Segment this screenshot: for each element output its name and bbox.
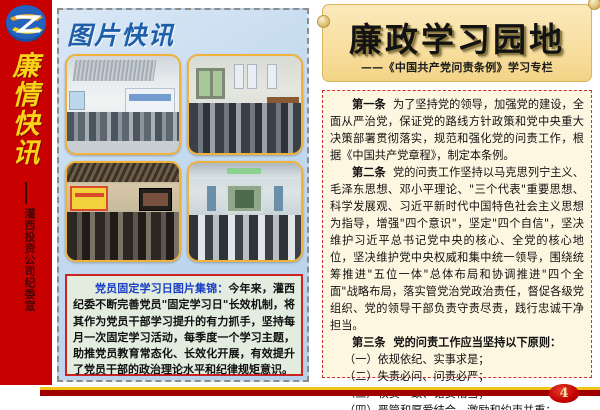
photo-item[interactable] bbox=[65, 54, 181, 155]
photo-poster-detail bbox=[234, 64, 244, 89]
principle-item: （一）依规依纪、实事求是； bbox=[330, 351, 584, 368]
banner-title-char-2: 快 bbox=[0, 110, 52, 139]
photo-caption-text: 党员固定学习日图片集锦：今年来，灌西纪委不断完善党员"固定学习日"长效机制，将其… bbox=[73, 281, 295, 379]
photo-screen-detail bbox=[139, 188, 173, 211]
photo-door-detail bbox=[207, 186, 216, 211]
photo-door-detail bbox=[274, 186, 283, 211]
principle-item: （二）失责必问、问责必严； bbox=[330, 368, 584, 385]
banner-title-char-1: 情 bbox=[0, 81, 52, 110]
photo-item[interactable] bbox=[187, 161, 303, 262]
photo-poster-detail bbox=[247, 64, 257, 89]
article-head: 第一条 bbox=[352, 98, 386, 111]
photo-audience-detail bbox=[189, 215, 301, 260]
banner-title: 廉 情 快 讯 bbox=[0, 52, 52, 169]
picture-news-title: 图片快讯 bbox=[67, 16, 175, 52]
photo-wall-banner-detail bbox=[70, 186, 108, 211]
article-paragraph: 第一条 为了坚持党的领导，加强党的建设，全面从严治党，保证党的路线方针政策和党中… bbox=[330, 96, 584, 164]
company-swoosh-logo-icon bbox=[4, 4, 48, 44]
article-head: 第三条 bbox=[352, 336, 386, 349]
banner-title-char-3: 讯 bbox=[0, 139, 52, 168]
article-paragraph: 第二条 党的问责工作坚持以马克思列宁主义、毛泽东思想、邓小平理论、"三个代表"重… bbox=[330, 164, 584, 334]
article-head: 第二条 bbox=[352, 166, 386, 179]
photo-item[interactable] bbox=[65, 161, 181, 262]
photo-caption-box: 党员固定学习日图片集锦：今年来，灌西纪委不断完善党员"固定学习日"长效机制，将其… bbox=[65, 274, 303, 376]
study-column-title: 廉政学习园地 bbox=[323, 13, 591, 61]
photo-poster-detail bbox=[267, 64, 277, 89]
photo-caption-body: 今年来，灌西纪委不断完善党员"固定学习日"长效机制，将其作为党员干部学习提升的有… bbox=[73, 282, 295, 376]
photo-window-detail bbox=[196, 68, 225, 99]
picture-news-panel: 图片快讯 bbox=[57, 8, 309, 382]
principle-item: （四）严管和厚爱结合、激励和约束并重； bbox=[330, 402, 584, 410]
photo-ceiling-detail bbox=[72, 60, 156, 81]
article-three-paragraph: 第三条 党的问责工作应当坚持以下原则： bbox=[330, 334, 584, 351]
banner-divider-rule bbox=[25, 182, 27, 204]
photo-window-detail bbox=[69, 91, 85, 110]
photo-projection-screen-detail bbox=[226, 184, 263, 213]
photo-audience-detail bbox=[189, 103, 301, 153]
photo-ceiling-detail bbox=[189, 163, 301, 179]
scroll-knob-right-icon bbox=[588, 0, 600, 10]
article-body: 党的问责工作坚持以马克思列宁主义、毛泽东思想、邓小平理论、"三个代表"重要思想、… bbox=[330, 166, 584, 332]
photo-item[interactable] bbox=[187, 54, 303, 155]
regulation-article-box: 第一条 为了坚持党的领导，加强党的建设，全面从严治党，保证党的路线方针政策和党中… bbox=[322, 90, 592, 378]
newsletter-page: 廉 情 快 讯 灌西投资公司纪委宣 图片快讯 bbox=[0, 0, 600, 410]
left-red-banner: 廉 情 快 讯 灌西投资公司纪委宣 bbox=[0, 0, 52, 385]
footer-bar bbox=[40, 387, 600, 396]
study-column-subtitle: ——《中国共产党问责条例》学习专栏 bbox=[323, 59, 591, 75]
banner-title-char-0: 廉 bbox=[0, 52, 52, 81]
photo-caption-lead: 党员固定学习日图片集锦： bbox=[95, 282, 228, 295]
banner-subtitle: 灌西投资公司纪委宣 bbox=[17, 208, 35, 312]
article-body: 党的问责工作应当坚持以下原则： bbox=[393, 336, 561, 349]
photo-audience-detail bbox=[67, 212, 179, 261]
photo-ceiling-detail bbox=[67, 163, 179, 182]
photo-grid bbox=[65, 54, 303, 262]
photo-audience-detail bbox=[67, 112, 179, 153]
page-number-badge: 4 bbox=[549, 384, 579, 403]
study-column-title-scroll: 廉政学习园地 ——《中国共产党问责条例》学习专栏 bbox=[322, 4, 592, 82]
study-column-panel: 廉政学习园地 ——《中国共产党问责条例》学习专栏 第一条 为了坚持党的领导，加强… bbox=[318, 4, 596, 382]
